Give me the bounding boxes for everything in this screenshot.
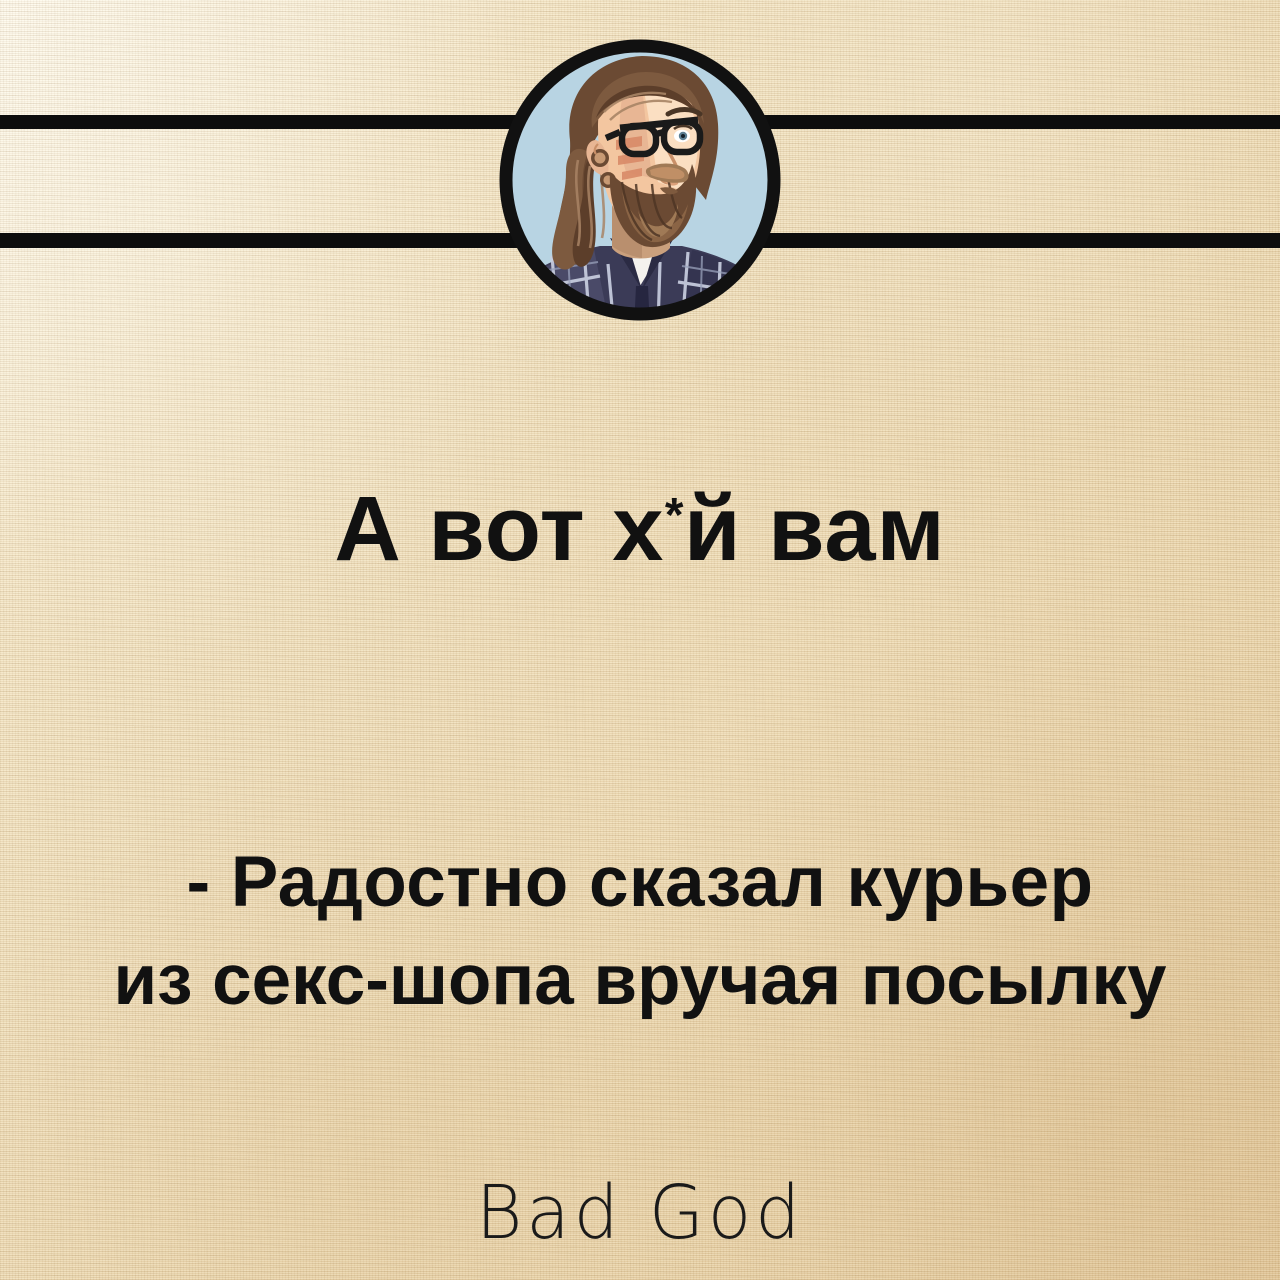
headline-censor-asterisk: * — [665, 489, 684, 542]
headline-after-star: й вам — [684, 478, 946, 580]
body-line-2: из секс-шопа вручая посылку — [0, 932, 1280, 1030]
avatar — [492, 32, 788, 328]
body-text: - Радостно сказал курьер из секс-шопа вр… — [0, 834, 1280, 1030]
headline: А вот х*й вам — [0, 483, 1280, 575]
watermark-text: Bad God — [476, 1176, 804, 1250]
body-line-1: - Радостно сказал курьер — [0, 834, 1280, 932]
headline-before-star: А вот х — [334, 478, 664, 580]
watermark: Bad God — [0, 1176, 1280, 1250]
meme-card: А вот х*й вам - Радостно сказал курьер и… — [0, 0, 1280, 1280]
